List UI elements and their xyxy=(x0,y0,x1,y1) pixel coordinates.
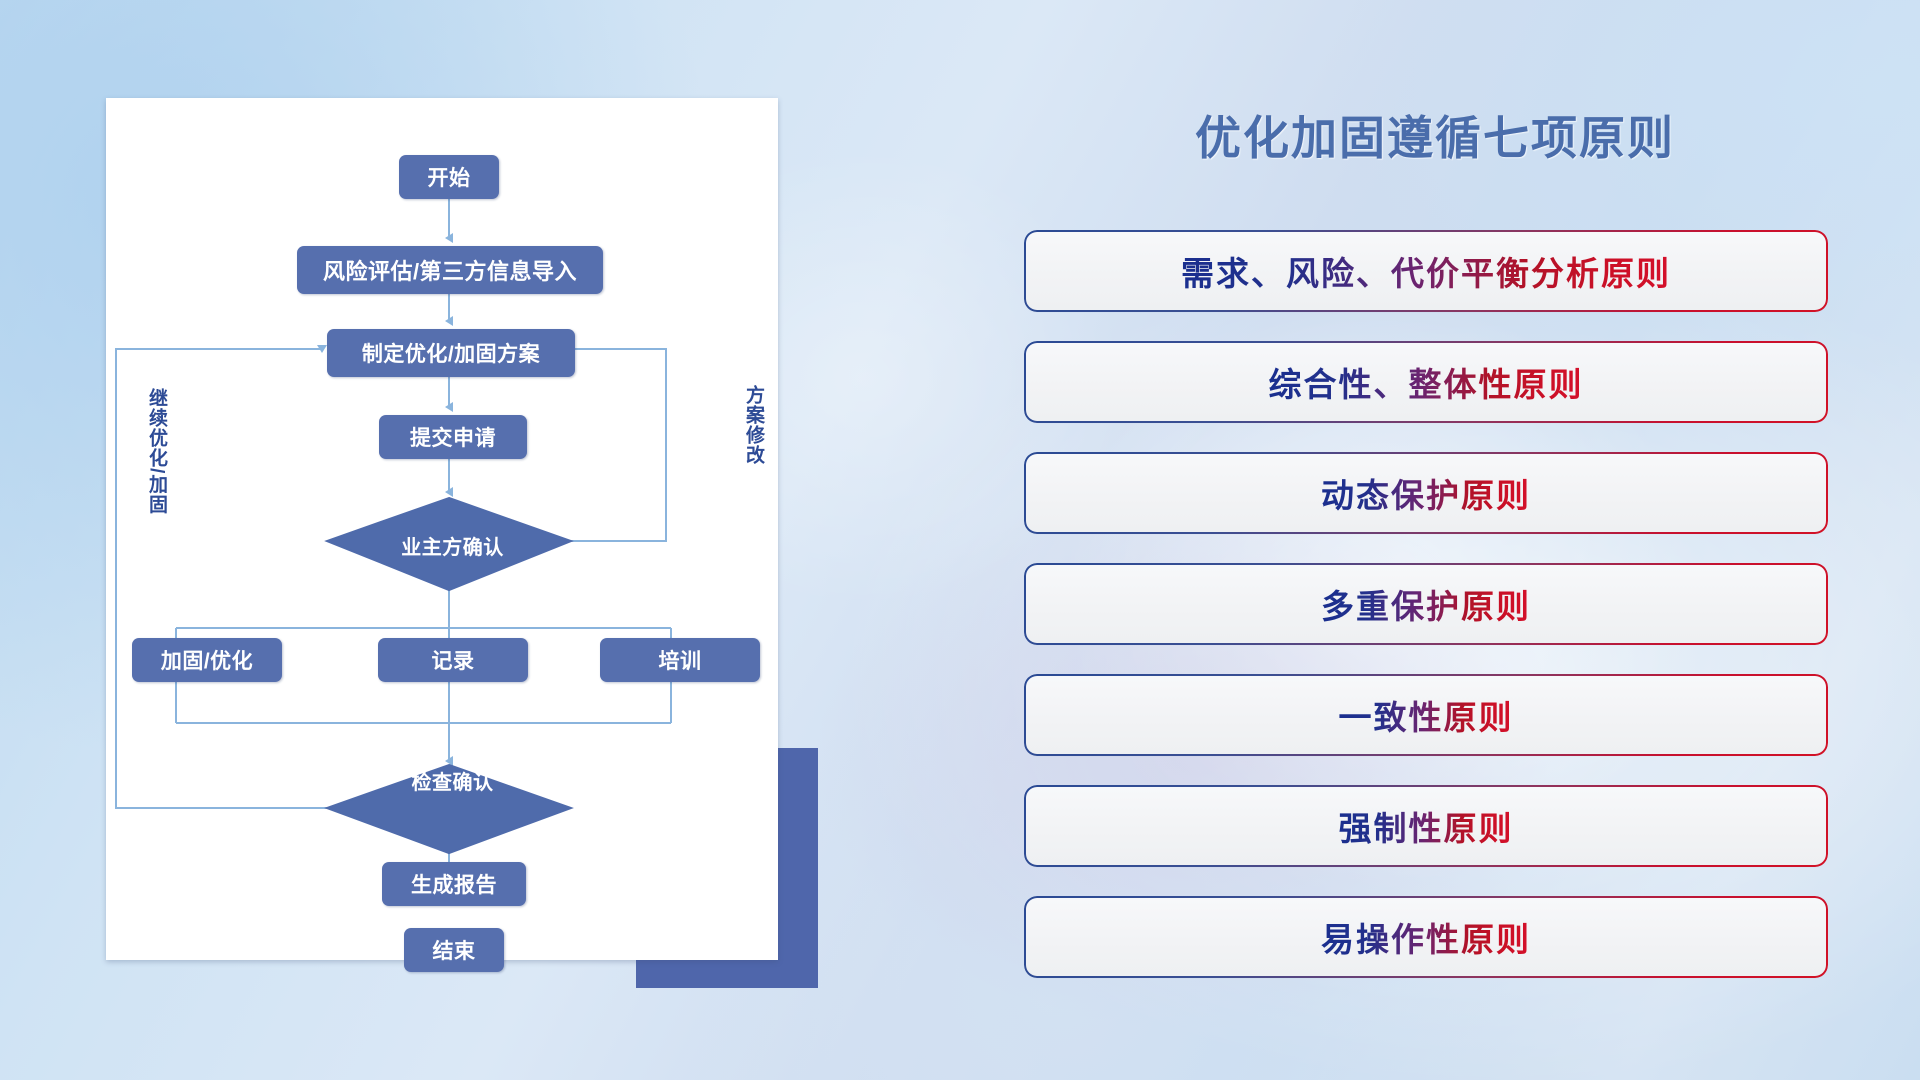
flow-side-label-continue-optimize: 继续优化/加固 xyxy=(143,388,170,514)
flowchart-card: 开始风险评估/第三方信息导入制定优化/加固方案提交申请业主方确认加固/优化记录培… xyxy=(106,98,778,960)
principle-card-6[interactable]: 强制性原则 xyxy=(1026,787,1826,865)
flow-node-submit: 提交申请 xyxy=(379,415,527,459)
principle-card-label: 一致性原则 xyxy=(1339,691,1514,739)
principle-card-3[interactable]: 动态保护原则 xyxy=(1026,454,1826,532)
principle-card-label: 综合性、整体性原则 xyxy=(1269,358,1584,406)
principle-card-7[interactable]: 易操作性原则 xyxy=(1026,898,1826,976)
flowchart-connectors xyxy=(106,98,778,960)
flow-node-start: 开始 xyxy=(399,155,499,199)
principle-card-label: 多重保护原则 xyxy=(1321,580,1531,628)
flow-node-end: 结束 xyxy=(404,928,504,972)
principle-card-label: 强制性原则 xyxy=(1339,802,1514,850)
flow-node-reinforce: 加固/优化 xyxy=(132,638,282,682)
principle-card-4[interactable]: 多重保护原则 xyxy=(1026,565,1826,643)
flow-node-plan: 制定优化/加固方案 xyxy=(327,329,575,377)
principle-card-1[interactable]: 需求、风险、代价平衡分析原则 xyxy=(1026,232,1826,310)
principle-card-label: 需求、风险、代价平衡分析原则 xyxy=(1181,247,1671,295)
principle-card-2[interactable]: 综合性、整体性原则 xyxy=(1026,343,1826,421)
principles-panel: 优化加固遵循七项原则 需求、风险、代价平衡分析原则综合性、整体性原则动态保护原则… xyxy=(1020,80,1850,1010)
principle-card-label: 易操作性原则 xyxy=(1321,913,1531,961)
principle-card-5[interactable]: 一致性原则 xyxy=(1026,676,1826,754)
flow-node-risk: 风险评估/第三方信息导入 xyxy=(297,246,603,294)
principle-card-label: 动态保护原则 xyxy=(1321,469,1531,517)
flow-node-report: 生成报告 xyxy=(382,862,526,906)
flow-node-training: 培训 xyxy=(600,638,760,682)
flow-side-label-plan-revision: 方案修改 xyxy=(740,385,767,465)
flow-node-record: 记录 xyxy=(378,638,528,682)
panel-title: 优化加固遵循七项原则 xyxy=(1020,102,1850,168)
